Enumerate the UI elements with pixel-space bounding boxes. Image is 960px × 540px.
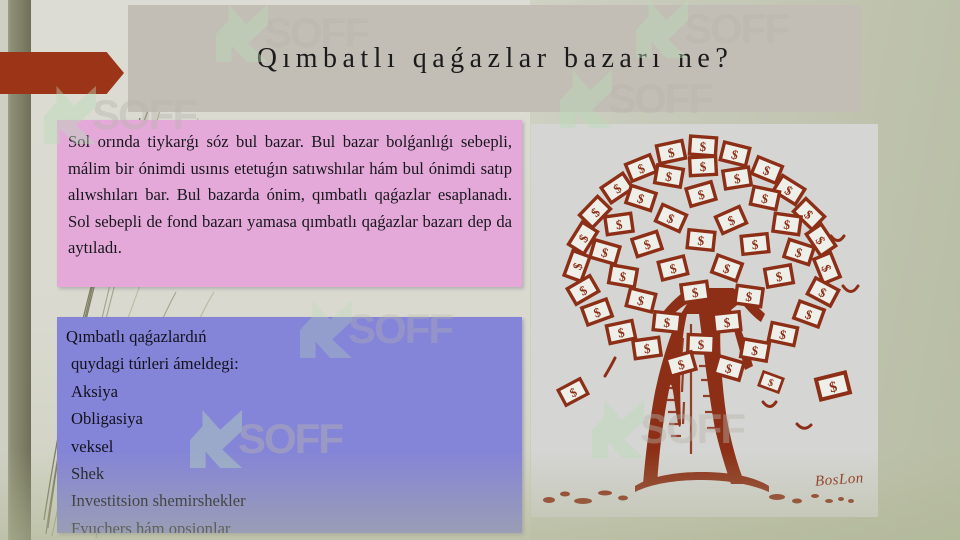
page-title: Qımbatlı qaǵazlar bazarı ne? — [257, 43, 734, 75]
background-bottom-fade — [0, 450, 960, 540]
list-heading-line-2: quydagi túrleri ámeldegi: — [57, 350, 522, 377]
list-item: Aksiya — [57, 378, 522, 405]
list-heading-line-1: Qımbatlı qaǵazlardıń — [57, 323, 522, 350]
definition-paragraph: Sol orında tiykarǵı sóz bul bazar. Bul b… — [57, 120, 522, 262]
list-item: Obligasiya — [57, 405, 522, 432]
arrow-banner — [0, 52, 124, 94]
slide-canvas: Qımbatlı qaǵazlar bazarı ne? Sol orında … — [0, 0, 960, 540]
definition-text-box: Sol orında tiykarǵı sóz bul bazar. Bul b… — [57, 120, 522, 287]
title-bar: Qımbatlı qaǵazlar bazarı ne? — [128, 5, 862, 112]
